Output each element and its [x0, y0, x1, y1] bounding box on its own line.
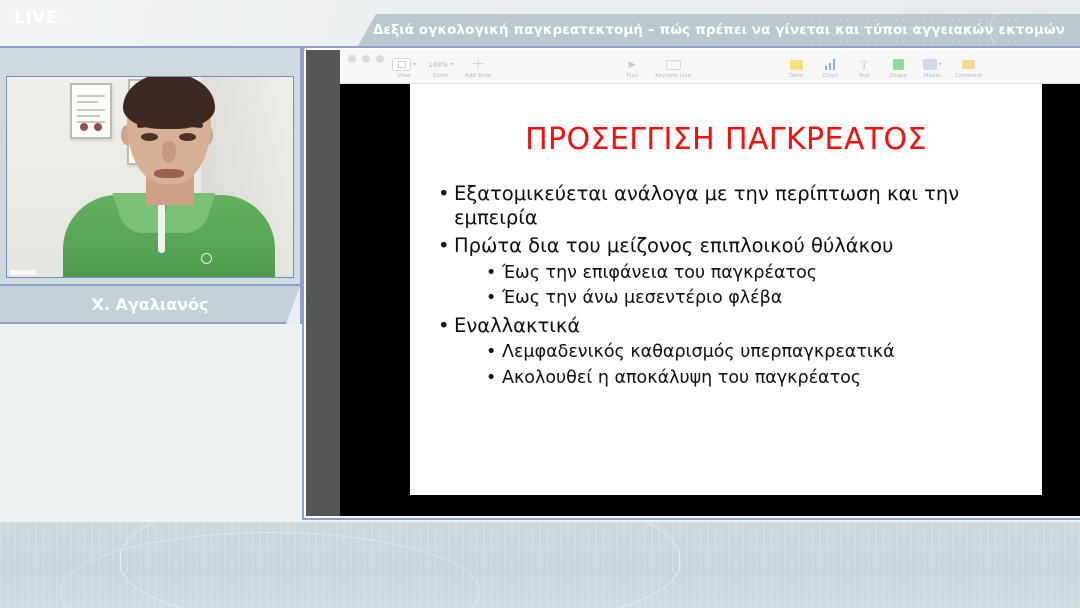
logo-live-text: LIVE [14, 8, 58, 28]
toolbar-play-label: Play [626, 73, 638, 79]
minimize-icon[interactable] [362, 55, 370, 63]
livemed-logo: LIVEMED [14, 8, 98, 28]
speaker-mouth [154, 169, 184, 178]
toolbar-shape-label: Shape [889, 73, 906, 79]
toolbar-comment-button[interactable]: Comment [949, 56, 988, 79]
chart-icon [825, 59, 836, 70]
bullet-text: Εξατομικεύεται ανάλογα με την περίπτωση … [454, 182, 1030, 230]
bullet-text: Έως την επιφάνεια του παγκρέατος [502, 263, 1030, 285]
bullet-text: Έως την άνω μεσεντέριο φλέβα [502, 288, 1030, 310]
toolbar-play-button[interactable]: ▶ Play [615, 56, 649, 79]
bullet-dot-icon: • [486, 263, 502, 285]
session-title: Δεξιά ογκολογική παγκρεατεκτομή – πώς πρ… [363, 22, 1075, 38]
toolbar-add-slide-label: Add Slide [465, 73, 491, 79]
presentation-stage: ▾ View 148%▾ Zoom ＋ Add Slide ▶ Play Key… [302, 46, 1080, 520]
view-icon [392, 58, 411, 71]
media-icon [923, 59, 937, 70]
bullet-dot-icon: • [486, 342, 502, 364]
speaker-video-feed[interactable] [6, 76, 294, 278]
plus-icon: ＋ [471, 59, 485, 71]
bullet-item: • Εξατομικεύεται ανάλογα με την περίπτωσ… [438, 182, 1030, 230]
chevron-down-icon: ▾ [413, 61, 416, 68]
text-icon: T [860, 59, 867, 71]
speaker-eye-right [179, 133, 196, 141]
keynote-toolbar[interactable]: ▾ View 148%▾ Zoom ＋ Add Slide ▶ Play Key… [340, 50, 1080, 84]
toolbar-zoom-value: 148% [428, 61, 448, 69]
toolbar-zoom-button[interactable]: 148%▾ Zoom [422, 56, 459, 79]
toolbar-text-button[interactable]: T Text [847, 56, 881, 79]
bullet-text: Ακολουθεί η αποκάλυψη του παγκρέατος [502, 368, 1030, 390]
toolbar-collaborate-button[interactable]: Collaborate [1076, 56, 1080, 79]
toolbar-zoom-label: Zoom [433, 73, 449, 79]
nameplate-corner-cut [286, 286, 300, 324]
toolbar-keynote-live-label: Keynote Live [655, 73, 691, 79]
bullet-text: Πρώτα δια του μείζονος επιπλοικού θύλάκο… [454, 234, 1030, 258]
toolbar-media-label: Media [924, 73, 941, 79]
speaker-nameplate: Χ. Αγαλιανός [0, 286, 302, 324]
toolbar-view-label: View [397, 73, 410, 79]
bullet-dot-icon: • [438, 182, 454, 230]
session-title-bar: Δεξιά ογκολογική παγκρεατεκτομή – πώς πρ… [358, 14, 1080, 46]
shirt-logo [201, 253, 212, 264]
framed-certificate [70, 83, 112, 139]
keynote-slide-navigator[interactable] [306, 50, 340, 516]
keynote-live-icon [666, 60, 681, 70]
speaker-name: Χ. Αγαλιανός [92, 295, 209, 314]
toolbar-chart-button[interactable]: Chart [813, 56, 847, 79]
bullet-item: • Έως την άνω μεσεντέριο φλέβα [438, 288, 1030, 310]
slide-bullet-list: • Εξατομικεύεται ανάλογα με την περίπτωσ… [438, 182, 1030, 393]
toolbar-media-button[interactable]: ▾ Media [915, 56, 949, 79]
toolbar-chart-label: Chart [822, 73, 837, 79]
toolbar-table-label: Table [789, 73, 803, 79]
speaker-nose [162, 141, 176, 163]
chevron-down-icon: ▾ [939, 61, 942, 68]
speaker-video-panel[interactable] [0, 46, 302, 286]
play-icon: ▶ [629, 60, 636, 70]
toolbar-view-button[interactable]: ▾ View [386, 56, 422, 79]
window-traffic-lights[interactable] [348, 55, 384, 63]
video-timestamp-overlay [10, 270, 36, 275]
slide-canvas: ΠΡΟΣΕΓΓΙΣΗ ΠΑΓΚΡΕΑΤΟΣ • Εξατομικεύεται α… [410, 84, 1042, 495]
comment-icon [962, 60, 975, 69]
table-icon [790, 60, 803, 70]
slide-title: ΠΡΟΣΕΓΓΙΣΗ ΠΑΓΚΡΕΑΤΟΣ [410, 122, 1042, 157]
bullet-dot-icon: • [438, 314, 454, 338]
toolbar-shape-button[interactable]: Shape [881, 56, 915, 79]
shirt-placket [158, 203, 165, 253]
logo-med-text: MED [58, 8, 98, 28]
bullet-item: • Ακολουθεί η αποκάλυψη του παγκρέατος [438, 368, 1030, 390]
speaker-hair [123, 76, 215, 129]
bullet-dot-icon: • [486, 288, 502, 310]
slide-letterbox: ΠΡΟΣΕΓΓΙΣΗ ΠΑΓΚΡΕΑΤΟΣ • Εξατομικεύεται α… [340, 84, 1080, 516]
bullet-item: • Έως την επιφάνεια του παγκρέατος [438, 263, 1030, 285]
toolbar-comment-label: Comment [955, 73, 982, 79]
toolbar-text-label: Text [858, 73, 869, 79]
bullet-text: Εναλλακτικά [454, 314, 1030, 338]
bullet-item: • Λεμφαδενικός καθαρισμός υπερπαγκρεατικ… [438, 342, 1030, 364]
bullet-dot-icon: • [486, 368, 502, 390]
maximize-icon[interactable] [376, 55, 384, 63]
toolbar-add-slide-button[interactable]: ＋ Add Slide [459, 56, 497, 79]
toolbar-keynote-live-button[interactable]: Keynote Live [649, 56, 697, 79]
close-icon[interactable] [348, 55, 356, 63]
bullet-text: Λεμφαδενικός καθαρισμός υπερπαγκρεατικά [502, 342, 1030, 364]
bullet-dot-icon: • [438, 234, 454, 258]
bullet-item: • Εναλλακτικά [438, 314, 1030, 338]
chevron-down-icon: ▾ [450, 61, 453, 68]
event-banner: 12ο ΕΤΟΣ Κύκλος Μαθημάτων Χειρουργικής Π… [0, 522, 1080, 608]
toolbar-table-button[interactable]: Table [779, 56, 813, 79]
top-bar: LIVEMED Δεξιά ογκολογική παγκρεατεκτομή … [0, 0, 1080, 46]
bullet-item: • Πρώτα δια του μείζονος επιπλοικού θύλά… [438, 234, 1030, 258]
speaker-eye-left [141, 133, 158, 141]
shape-icon [893, 59, 904, 70]
